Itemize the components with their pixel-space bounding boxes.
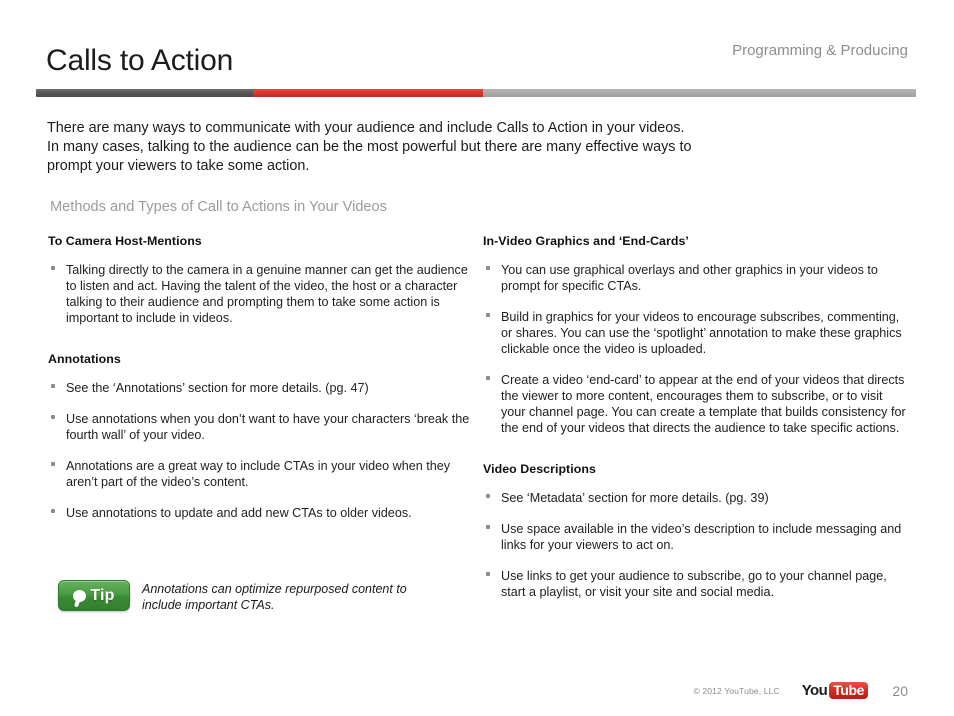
list-item: Use annotations to update and add new CT… <box>48 505 478 521</box>
header-divider-bar <box>36 89 916 97</box>
youtube-logo-tube: Tube <box>829 682 868 699</box>
bullet-list-annotations: See the ‘Annotations’ section for more d… <box>48 380 478 521</box>
bullet-dot-icon <box>486 525 490 529</box>
group-heading-video-descriptions: Video Descriptions <box>483 462 908 476</box>
list-item-text: Create a video ‘end-card’ to appear at t… <box>501 373 906 435</box>
list-item: See ‘Metadata’ section for more details.… <box>483 490 908 506</box>
speech-bubble-icon <box>73 590 86 602</box>
bullet-dot-icon <box>486 572 490 576</box>
bullet-dot-icon <box>486 494 490 498</box>
bullet-dot-icon <box>51 384 55 388</box>
list-item: Build in graphics for your videos to enc… <box>483 309 908 357</box>
bullet-dot-icon <box>51 415 55 419</box>
section-label: Programming & Producing <box>732 42 908 59</box>
list-item: Annotations are a great way to include C… <box>48 458 478 490</box>
bullet-list-video-descriptions: See ‘Metadata’ section for more details.… <box>483 490 908 600</box>
list-item: You can use graphical overlays and other… <box>483 262 908 294</box>
list-item-text: Build in graphics for your videos to enc… <box>501 310 902 356</box>
page-title: Calls to Action <box>46 44 233 77</box>
list-item-text: Use annotations to update and add new CT… <box>66 506 412 520</box>
divider-segment-dark <box>36 89 253 97</box>
bullet-dot-icon <box>51 509 55 513</box>
tip-badge-label: Tip <box>90 588 114 604</box>
list-item-text: Use annotations when you don’t want to h… <box>66 412 469 442</box>
bullet-dot-icon <box>486 313 490 317</box>
list-item: Create a video ‘end-card’ to appear at t… <box>483 372 908 436</box>
list-item-text: Use links to get your audience to subscr… <box>501 569 887 599</box>
list-item-text: See ‘Metadata’ section for more details.… <box>501 491 769 505</box>
list-item: Use annotations when you don’t want to h… <box>48 411 478 443</box>
list-item-text: Use space available in the video’s descr… <box>501 522 901 552</box>
page-number: 20 <box>890 683 908 699</box>
tip-callout: Tip Annotations can optimize repurposed … <box>58 580 442 613</box>
bullet-dot-icon <box>486 376 490 380</box>
youtube-logo: You Tube <box>802 682 868 699</box>
list-item: Use space available in the video’s descr… <box>483 521 908 553</box>
tip-text: Annotations can optimize repurposed cont… <box>142 580 442 613</box>
list-item: Talking directly to the camera in a genu… <box>48 262 478 326</box>
content-subheading: Methods and Types of Call to Actions in … <box>50 199 387 215</box>
bullet-dot-icon <box>51 462 55 466</box>
list-item-text: Talking directly to the camera in a genu… <box>66 263 468 325</box>
list-item-text: You can use graphical overlays and other… <box>501 263 878 293</box>
group-heading-annotations: Annotations <box>48 352 478 366</box>
list-item: Use links to get your audience to subscr… <box>483 568 908 600</box>
bullet-dot-icon <box>486 266 490 270</box>
group-heading-in-video-graphics: In-Video Graphics and ‘End-Cards’ <box>483 234 908 248</box>
footer: © 2012 YouTube, LLC You Tube 20 <box>693 682 908 699</box>
intro-paragraph: There are many ways to communicate with … <box>47 119 697 177</box>
group-heading-host-mentions: To Camera Host-Mentions <box>48 234 478 248</box>
youtube-logo-you: You <box>802 683 827 698</box>
copyright-text: © 2012 YouTube, LLC <box>693 686 779 696</box>
bullet-list-in-video-graphics: You can use graphical overlays and other… <box>483 262 908 436</box>
list-item: See the ‘Annotations’ section for more d… <box>48 380 478 396</box>
list-item-text: Annotations are a great way to include C… <box>66 459 450 489</box>
divider-segment-red <box>253 89 483 97</box>
bullet-dot-icon <box>51 266 55 270</box>
divider-segment-light <box>483 89 916 97</box>
right-content-column: In-Video Graphics and ‘End-Cards’ You ca… <box>483 234 908 600</box>
tip-badge: Tip <box>58 580 130 611</box>
left-content-column: To Camera Host-Mentions Talking directly… <box>48 234 478 521</box>
bullet-list-host-mentions: Talking directly to the camera in a genu… <box>48 262 478 326</box>
list-item-text: See the ‘Annotations’ section for more d… <box>66 381 369 395</box>
